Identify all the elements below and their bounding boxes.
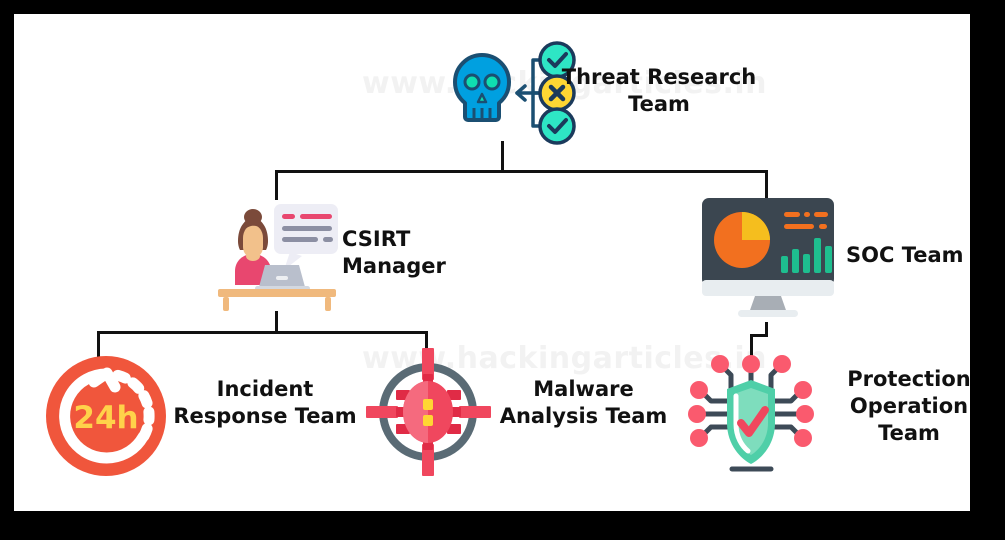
shield-circuit-icon	[684, 348, 819, 478]
label-soc-team: SOC Team	[846, 242, 970, 269]
diagram-canvas: www.hackingarticles.in www.hackingarticl…	[14, 14, 970, 511]
diagram-frame: www.hackingarticles.in www.hackingarticl…	[0, 0, 1005, 540]
connector-csirt-stem	[275, 311, 278, 333]
connector-threat-stem	[501, 141, 504, 172]
label-incident-response: Incident Response Team	[160, 376, 370, 430]
label-malware-analysis: Malware Analysis Team	[486, 376, 681, 430]
monitor-dashboard-icon	[698, 194, 838, 319]
badge-24h: 24h	[73, 400, 138, 436]
connector-level2-bar	[275, 170, 768, 173]
crosshair-bug-icon	[366, 348, 491, 476]
person-at-desk-with-chat-icon	[210, 196, 345, 311]
label-threat-research: Threat Research Team	[549, 64, 769, 118]
24h-clock-arrow-icon: 24h	[44, 354, 169, 479]
label-csirt-manager: CSIRT Manager	[342, 226, 522, 280]
label-protection-operation: Protection Operation Team	[824, 366, 970, 447]
connector-level3-bar	[97, 331, 428, 334]
